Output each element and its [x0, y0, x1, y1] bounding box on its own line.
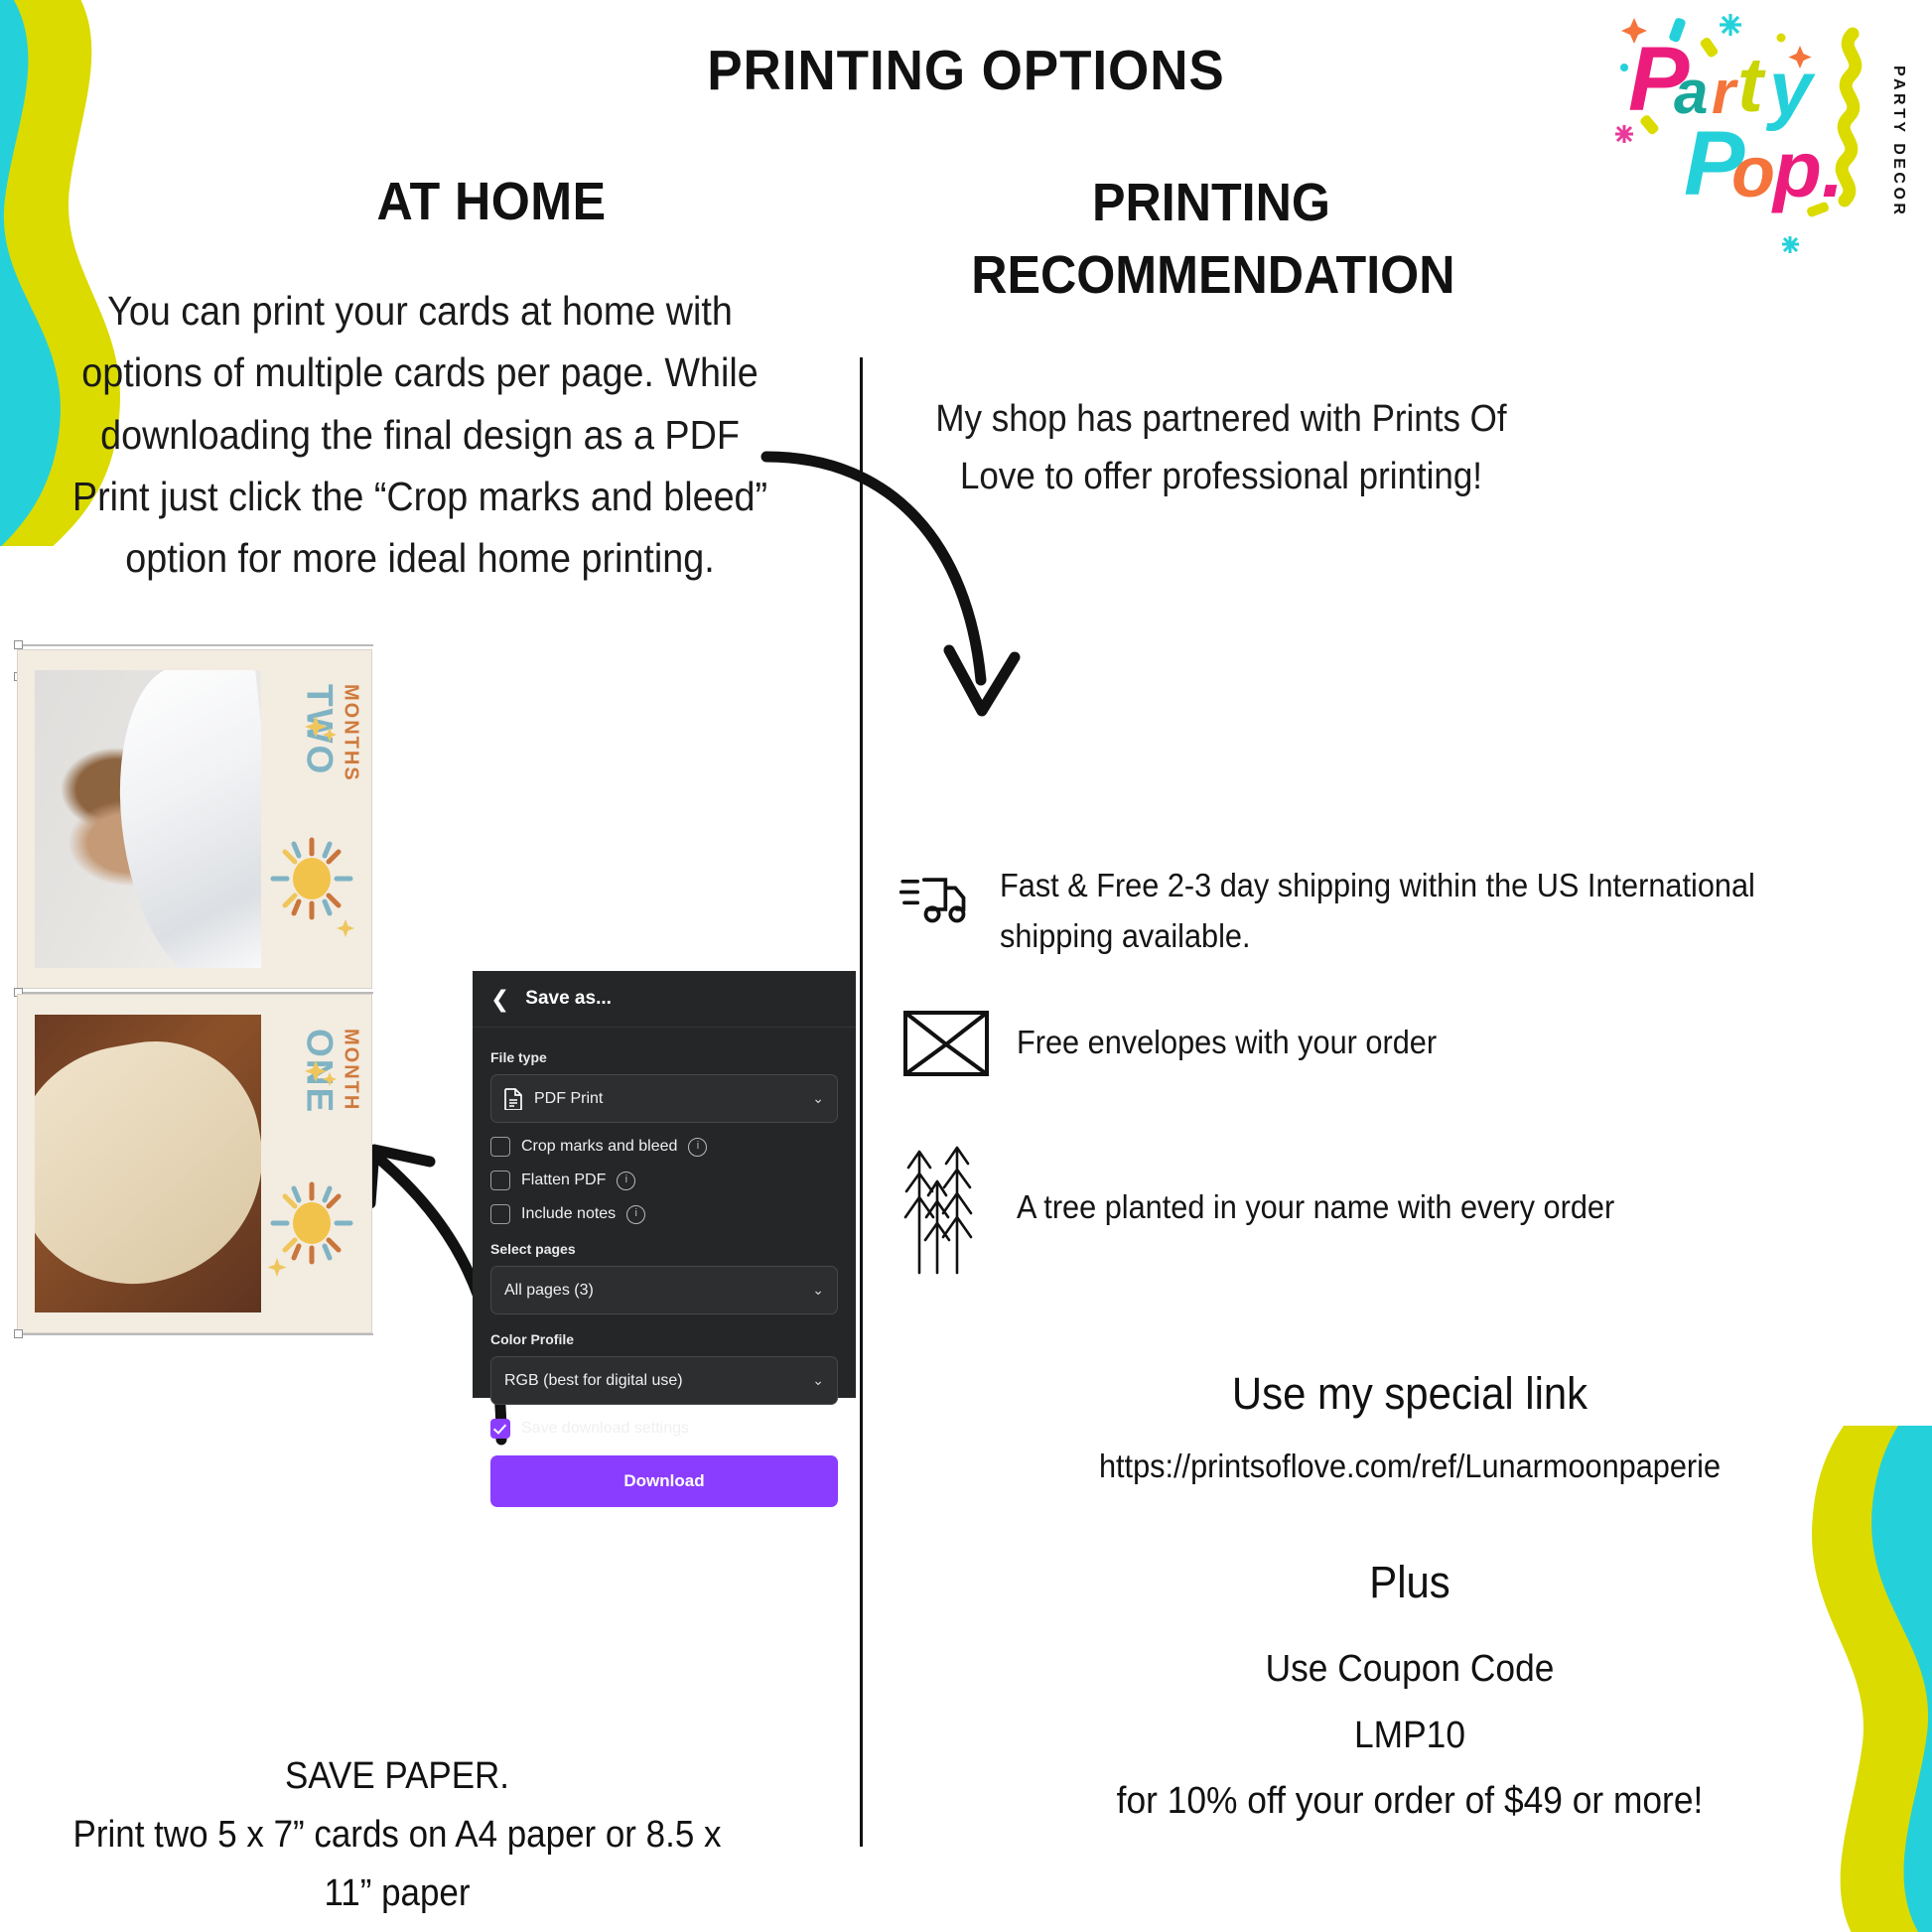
selection-handle[interactable]: [14, 1329, 23, 1338]
at-home-description: You can print your cards at home with op…: [60, 280, 781, 590]
coupon-lead: Use Coupon Code: [929, 1636, 1889, 1703]
dialog-title: Save as...: [525, 988, 612, 1010]
color-profile-value: RGB (best for digital use): [504, 1372, 683, 1390]
sparkle-icon: [334, 916, 361, 944]
feature-tree-text: A tree planted in your name with every o…: [1017, 1181, 1614, 1232]
selection-handle[interactable]: [14, 640, 23, 649]
section-title-line2: RECOMMENDATION: [971, 239, 1451, 312]
feature-tree: A tree planted in your name with every o…: [899, 1142, 1902, 1281]
page-title: PRINTING OPTIONS: [68, 38, 1864, 103]
plus-label: Plus: [929, 1557, 1889, 1608]
swaddle-cloth: [35, 1025, 261, 1303]
checkbox-crop-marks-and-bleed[interactable]: Crop marks and bleed i: [490, 1137, 838, 1157]
selection-line-top: [18, 644, 373, 646]
checkbox-flatten-pdf[interactable]: Flatten PDF i: [490, 1171, 838, 1190]
card-label-small: MONTH: [341, 1029, 360, 1111]
section-title-printing-recommendation: PRINTING RECOMMENDATION: [971, 167, 1451, 312]
svg-text:o: o: [1731, 133, 1775, 212]
checkbox-box[interactable]: [490, 1204, 510, 1224]
special-link-lead: Use my special link: [929, 1368, 1889, 1420]
sparkle-icon: [264, 1255, 294, 1285]
sparkle-icon: [302, 1056, 338, 1092]
section-title-line1: PRINTING: [971, 167, 1451, 239]
poster-canvas: P a r t y P o p. PARTY DECOR PRINTING OP…: [0, 0, 1932, 1932]
save-paper-heading: SAVE PAPER.: [50, 1747, 744, 1806]
checkbox-label: Include notes: [521, 1205, 616, 1223]
feature-shipping: Fast & Free 2-3 day shipping within the …: [899, 860, 1902, 961]
color-profile-label: Color Profile: [490, 1331, 838, 1347]
chevron-down-icon[interactable]: ⌄: [812, 1282, 824, 1299]
file-type-value: PDF Print: [534, 1090, 603, 1108]
selection-line-bottom: [18, 1333, 373, 1335]
pdf-file-icon: [504, 1088, 523, 1110]
checkbox-label: Flatten PDF: [521, 1172, 606, 1189]
selection-line-mid: [18, 992, 373, 994]
coupon-block: Use Coupon Code LMP10 for 10% off your o…: [929, 1636, 1889, 1835]
sun-icon: [268, 834, 355, 923]
card-preview-two-months[interactable]: TWO MONTHS: [18, 650, 371, 988]
special-link-block: Use my special link https://printsoflove…: [894, 1368, 1926, 1485]
card-previews: TWO MONTHS: [18, 650, 373, 1339]
chevron-down-icon[interactable]: ⌄: [812, 1090, 824, 1107]
info-icon[interactable]: i: [688, 1138, 707, 1157]
color-profile-dropdown[interactable]: RGB (best for digital use) ⌄: [490, 1356, 838, 1405]
save-paper-caption: SAVE PAPER. Print two 5 x 7” cards on A4…: [50, 1747, 744, 1923]
checkbox-save-download-settings[interactable]: Save download settings: [490, 1419, 838, 1439]
save-paper-body: Print two 5 x 7” cards on A4 paper or 8.…: [50, 1806, 744, 1923]
checkbox-box[interactable]: [490, 1419, 510, 1439]
checkbox-label: Save download settings: [521, 1420, 689, 1438]
dialog-body: File type PDF Print ⌄ Crop marks and ble…: [473, 1028, 856, 1507]
select-pages-label: Select pages: [490, 1241, 838, 1257]
baby-photo-two-months: [35, 670, 261, 968]
feature-envelopes: Free envelopes with your order: [899, 1005, 1902, 1080]
select-pages-value: All pages (3): [504, 1282, 594, 1300]
chevron-left-icon[interactable]: ❮: [490, 988, 509, 1011]
card-label-small: MONTHS: [341, 684, 360, 782]
select-pages-dropdown[interactable]: All pages (3) ⌄: [490, 1266, 838, 1314]
baby-photo-one-month: [35, 1015, 261, 1312]
feature-envelopes-text: Free envelopes with your order: [1017, 1017, 1437, 1067]
info-icon[interactable]: i: [617, 1172, 635, 1190]
file-type-label: File type: [490, 1049, 838, 1065]
sparkle-icon: [302, 712, 338, 748]
download-button[interactable]: Download: [490, 1455, 838, 1507]
chevron-down-icon[interactable]: ⌄: [812, 1372, 824, 1389]
special-link-url[interactable]: https://printsoflove.com/ref/Lunarmoonpa…: [929, 1448, 1889, 1485]
pine-trees-icon: [899, 1142, 995, 1281]
swaddle-cloth: [106, 670, 261, 968]
checkbox-box[interactable]: [490, 1137, 510, 1157]
info-icon[interactable]: i: [626, 1205, 645, 1224]
checkbox-box[interactable]: [490, 1171, 510, 1190]
logo-tagline: PARTY DECOR: [1890, 66, 1907, 217]
file-type-select[interactable]: PDF Print ⌄: [490, 1074, 838, 1123]
coupon-terms: for 10% off your order of $49 or more!: [929, 1768, 1889, 1835]
section-title-at-home: AT HOME: [270, 171, 713, 232]
checkbox-include-notes[interactable]: Include notes i: [490, 1204, 838, 1224]
envelope-icon: [899, 1005, 995, 1080]
svg-text:p.: p.: [1771, 125, 1844, 213]
delivery-truck-icon: [899, 860, 978, 939]
curved-arrow-to-dialog: [755, 437, 1052, 764]
card-preview-one-month[interactable]: ONE MONTH: [18, 995, 371, 1332]
checkbox-label: Crop marks and bleed: [521, 1138, 677, 1156]
feature-shipping-text: Fast & Free 2-3 day shipping within the …: [1000, 860, 1839, 961]
dialog-header: ❮ Save as...: [473, 971, 856, 1028]
save-as-dialog[interactable]: ❮ Save as... File type PDF Print ⌄ Crop …: [473, 971, 856, 1398]
coupon-code: LMP10: [929, 1703, 1889, 1769]
